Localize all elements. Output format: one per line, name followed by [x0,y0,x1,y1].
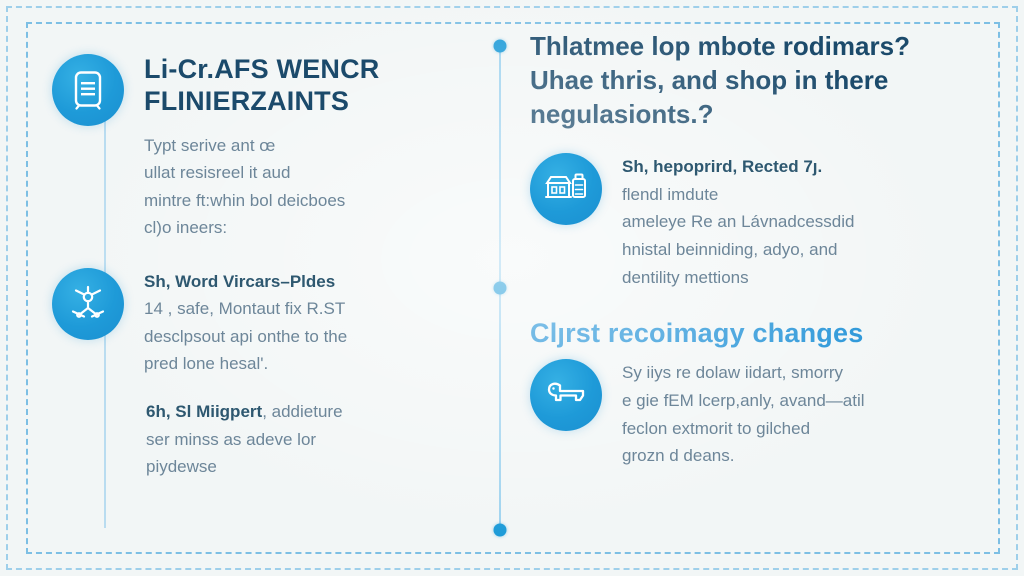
left-block-2-body: 6h, Sl Miigpert, addieture ser minss as … [146,398,460,501]
left-block-1-paragraph: Sh, Word Vircars–Pldes 14 , safe, Montau… [144,268,460,378]
columns-container: Li-Cr.AFS WENCR FLINIERZAINTS Typt seriv… [0,0,1024,576]
left-block-1-line4: pred lone hesal'. [144,354,268,373]
right-heading-line1: Thlatmee lop mbote rodimars? [530,31,910,61]
right-block-1-paragraph: Sh, hepoprird, Rected 7ȷ. flendl imdute … [622,153,970,291]
left-block-1-lead: Sh, Word Vircars–Pldes [144,272,335,291]
right-block-1-line2: flendl imdute [622,185,718,204]
right-heading-line3: negulasionts.? [530,99,713,129]
left-intro-line2: ullat resisreel it aud [144,163,290,182]
right-sub-heading: Clȷrst recoimagy changes [530,317,970,349]
right-block-1-body: Sh, hepoprird, Rected 7ȷ. flendl imdute … [622,153,970,311]
left-intro-line4: cl)o ineers: [144,218,227,237]
left-block-2-lead-rest: , addieture [262,402,342,421]
right-block-2-line2: e gie fEM lcerp,anly, avand—atil [622,391,865,410]
right-block-1-line5: dentility mettions [622,268,749,287]
left-block-2-paragraph: 6h, Sl Miigpert, addieture ser minss as … [146,398,460,481]
right-block-2-line4: grozn d deans. [622,446,734,465]
left-block-2: 6h, Sl Miigpert, addieture ser minss as … [52,398,460,501]
right-block-1-line4: hnistal beinniding, adyo, and [622,240,838,259]
left-block-1-body: Sh, Word Vircars–Pldes 14 , safe, Montau… [144,268,460,392]
left-block-2-lead: 6h, Sl Miigpert [146,402,262,421]
infographic-canvas: Li-Cr.AFS WENCR FLINIERZAINTS Typt seriv… [0,0,1024,576]
left-column: Li-Cr.AFS WENCR FLINIERZAINTS Typt seriv… [0,0,500,576]
right-heading-line2: Uhae thris, and shop in there [530,65,888,95]
left-block-2-line3: piydewse [146,457,217,476]
left-block-primary: Li-Cr.AFS WENCR FLINIERZAINTS Typt seriv… [52,54,460,262]
left-block-1-line2: 14 , safe, Montaut fix R.ST [144,299,345,318]
right-column: Thlatmee lop mbote rodimars? Uhae thris,… [500,0,1024,576]
right-block-1-line3: ameleye Re an Lávnadcessdid [622,212,854,231]
left-intro-paragraph: Typt serive ant œ ullat resisreel it aud… [144,132,460,242]
storefront-container-icon [530,153,602,225]
left-block-1-line3: desclpsout api onthe to the [144,327,347,346]
right-block-2-body: Sy iiys re dolaw iidart, smorry e gie fE… [622,359,970,489]
right-block-1: Sh, hepoprird, Rected 7ȷ. flendl imdute … [530,153,970,311]
left-heading: Li-Cr.AFS WENCR FLINIERZAINTS [144,54,460,118]
right-block-2: Sy iiys re dolaw iidart, smorry e gie fE… [530,359,970,489]
left-intro-line3: mintre ft:whin bol deicboes [144,191,345,210]
right-block-2-paragraph: Sy iiys re dolaw iidart, smorry e gie fE… [622,359,970,469]
left-heading-line2: FLINIERZAINTS [144,86,349,116]
right-block-2-line1: Sy iiys re dolaw iidart, smorry [622,363,843,382]
right-block-2-line3: feclon extmorit to gilched [622,419,810,438]
right-question-heading: Thlatmee lop mbote rodimars? Uhae thris,… [530,30,970,131]
left-block-2-line2: ser minss as adeve lor [146,430,316,449]
right-block-1-lead: Sh, hepoprird, Rected 7ȷ. [622,157,822,176]
left-primary-body: Li-Cr.AFS WENCR FLINIERZAINTS Typt seriv… [144,54,460,262]
key-outline-icon [530,359,602,431]
left-intro-line1: Typt serive ant œ [144,136,275,155]
molecule-icon [52,268,124,340]
left-heading-line1: Li-Cr.AFS WENCR [144,54,380,84]
server-cabinet-icon [52,54,124,126]
left-block-1: Sh, Word Vircars–Pldes 14 , safe, Montau… [52,268,460,392]
